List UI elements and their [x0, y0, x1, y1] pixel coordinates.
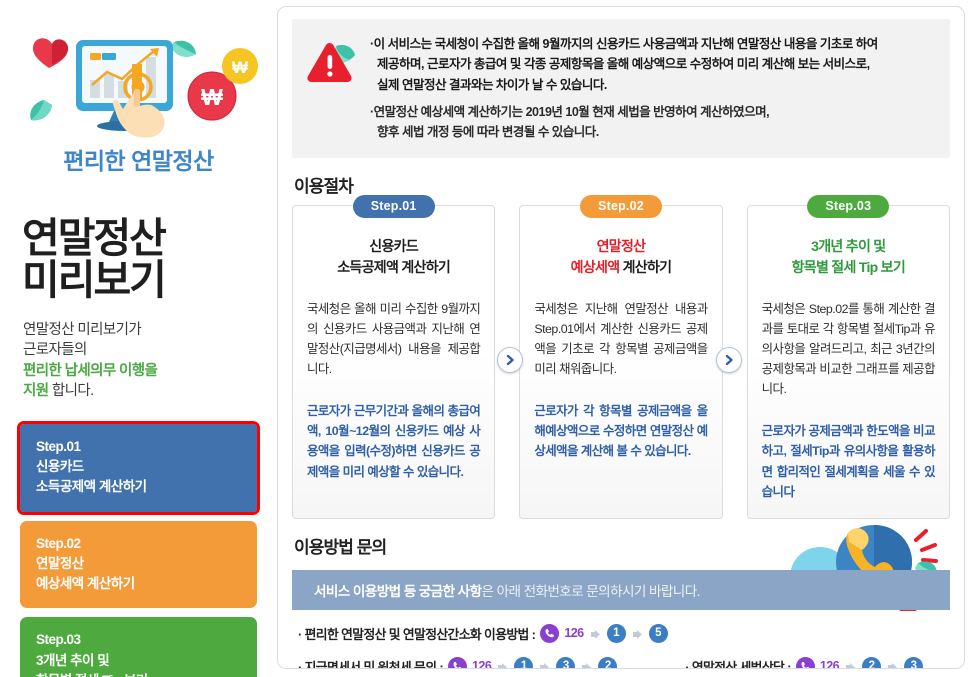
sidebar-steps-nav: Step.01 신용카드 소득공제액 계산하기 Step.02 연말정산 예상세… [20, 424, 257, 677]
phone-handset-icon [448, 657, 467, 669]
sidebar-item-step-02-line2: 예상세액 계산하기 [36, 574, 257, 594]
step-card-03-title: 3개년 추이 및 항목별 절세 Tip 보기 [762, 236, 935, 277]
sidebar-item-step-03-line1: 3개년 추이 및 [36, 651, 257, 671]
lead-line-2: 근로자들의 [23, 342, 87, 358]
page-title: 연말정산 미리보기 [22, 218, 263, 302]
step-card-01-badge: Step.01 [353, 195, 435, 218]
cta-banner: 서비스 이용방법 등 궁금한 사항은 아래 전화번호로 문의하시기 바랍니다. [292, 570, 950, 610]
monitor-chart-hand-coins-illustration: ₩ ₩ [14, 8, 263, 140]
step-card-02-body: 국세청은 지난해 연말정산 내용과 Step.01에서 계산한 신용카드 공제액… [534, 299, 707, 379]
telephone-digit: 1 [514, 657, 533, 669]
step-card-03-title-l2: 항목별 절세 Tip 보기 [762, 257, 935, 277]
procedure-heading: 이용절차 [294, 172, 950, 197]
telephone-digit: 2 [862, 657, 881, 669]
telephone-digit: 5 [649, 624, 668, 643]
telephone-label: · 편리한 연말정산 및 연말정산간소화 이용방법 : [298, 624, 535, 643]
chevron-right-icon[interactable] [716, 347, 742, 373]
telephone-digit: 3 [556, 657, 575, 669]
telephone-label: · 지급명세서 및 원천세 문의 : [298, 657, 443, 669]
step-card-01-badge-wrap: Step.01 [293, 195, 494, 218]
sidebar-item-step-03-num: Step.03 [36, 630, 257, 650]
telephone-number: 126 [472, 659, 491, 669]
telephone-label: · 연말정산 세법상담 : [685, 657, 791, 669]
step-card-02-title-l2: 예상세액 계산하기 [534, 257, 707, 277]
sidebar-item-step-02-num: Step.02 [36, 534, 257, 554]
sidebar-item-step-01-num: Step.01 [36, 437, 257, 457]
lead-line-4-tail: 합니다. [48, 383, 93, 399]
step-card-01-title: 신용카드 소득공제액 계산하기 [307, 236, 480, 277]
sidebar-item-step-01-line1: 신용카드 [36, 457, 257, 477]
lead-line-1: 연말정산 미리보기가 [23, 322, 141, 338]
notice-p1-l3: 실제 연말정산 결과와는 차이가 날 수 있습니다. [370, 75, 934, 95]
sidebar-lead-text: 연말정산 미리보기가 근로자들의 편리한 납세의무 이행을 지원 합니다. [23, 320, 263, 402]
telephone-group-withholding: · 지급명세서 및 원천세 문의 : 126 1 3 [298, 657, 617, 669]
telephone-digit: 2 [598, 657, 617, 669]
cta-banner-bold: 서비스 이용방법 등 궁금한 사항 [314, 584, 482, 599]
step-card-03-body-highlight: 근로자가 공제금액과 한도액을 비교하고, 절세Tip과 유의사항을 활용하면 … [762, 421, 935, 501]
step-card-02-title-l2-red: 예상세액 [571, 259, 620, 275]
step-card-01-title-l1: 신용카드 [307, 236, 480, 256]
step-card-02[interactable]: Step.02 연말정산 예상세액 계산하기 국세청은 지난해 연말정산 내용과… [519, 205, 722, 518]
step-card-03[interactable]: Step.03 3개년 추이 및 항목별 절세 Tip 보기 국세청은 Step… [747, 205, 950, 518]
step-card-01-title-l2: 소득공제액 계산하기 [307, 257, 480, 277]
contact-heading: 이용방법 문의 [294, 533, 950, 558]
arrow-right-icon [632, 628, 643, 639]
cta-banner-text: 서비스 이용방법 등 궁금한 사항은 아래 전화번호로 문의하시기 바랍니다. [314, 580, 700, 600]
telephone-group-tax-consult: · 연말정산 세법상담 : 126 2 3 [685, 657, 923, 669]
svg-text:₩: ₩ [201, 84, 223, 110]
step-card-02-badge: Step.02 [580, 195, 662, 218]
phone-handset-icon [540, 624, 559, 643]
telephone-row: · 편리한 연말정산 및 연말정산간소화 이용방법 : 126 1 5 [298, 624, 950, 643]
notice-box: ·이 서비스는 국세청이 수집한 올해 9월까지의 신용카드 사용금액과 지난해… [292, 19, 950, 158]
main-panel: ·이 서비스는 국세청이 수집한 올해 9월까지의 신용카드 사용금액과 지난해… [277, 6, 965, 669]
lead-line-3: 편리한 납세의무 이행을 [23, 363, 157, 379]
sidebar-item-step-03-line2: 항목별 절세 Tip 보기 [36, 671, 257, 677]
telephone-number: 126 [820, 659, 839, 669]
notice-text-block: ·이 서비스는 국세청이 수집한 올해 9월까지의 신용카드 사용금액과 지난해… [370, 33, 934, 142]
lead-line-4: 지원 [23, 383, 48, 399]
step-card-02-body-highlight: 근로자가 각 항목별 공제금액을 올해예상액으로 수정하면 연말정산 예상세액을… [534, 401, 707, 461]
arrow-right-icon [581, 661, 592, 669]
step-card-02-title-l1: 연말정산 [534, 236, 707, 256]
telephone-group-convenience: · 편리한 연말정산 및 연말정산간소화 이용방법 : 126 1 5 [298, 624, 668, 643]
arrow-right-icon [539, 661, 550, 669]
warning-triangle-icon [304, 33, 358, 90]
sidebar-item-step-03[interactable]: Step.03 3개년 추이 및 항목별 절세 Tip 보기 [20, 617, 257, 677]
cta-banner-rest: 은 아래 전화번호로 문의하시기 바랍니다. [482, 584, 700, 599]
svg-text:₩: ₩ [232, 58, 249, 77]
step-card-02-title: 연말정산 예상세액 계산하기 [534, 236, 707, 277]
sidebar: ₩ ₩ 편리한 연말정산 연말정산 미리보기 연말정산 미리보기가 근로자들의 … [0, 0, 277, 677]
step-card-02-title-l2-rest: 계산하기 [619, 259, 671, 275]
step-card-03-body: 국세청은 Step.02를 통해 계산한 결과를 토대로 각 항목별 절세Tip… [762, 299, 935, 399]
step-card-02-badge-wrap: Step.02 [520, 195, 721, 218]
procedure-cards: Step.01 신용카드 소득공제액 계산하기 국세청은 올해 미리 수집한 9… [292, 205, 950, 518]
sidebar-item-step-02-line1: 연말정산 [36, 554, 257, 574]
step-card-03-badge-wrap: Step.03 [748, 195, 949, 218]
page-root: ₩ ₩ 편리한 연말정산 연말정산 미리보기 연말정산 미리보기가 근로자들의 … [0, 0, 973, 677]
notice-p1-l1: ·이 서비스는 국세청이 수집한 올해 9월까지의 신용카드 사용금액과 지난해… [370, 37, 878, 51]
step-card-03-badge: Step.03 [807, 195, 889, 218]
sidebar-item-step-02[interactable]: Step.02 연말정산 예상세액 계산하기 [20, 521, 257, 609]
step-card-03-title-l1: 3개년 추이 및 [762, 236, 935, 256]
phone-handset-icon [796, 657, 815, 669]
arrow-right-icon [590, 628, 601, 639]
contact-section: 이용방법 문의 ₩ [292, 533, 950, 669]
step-card-01-body: 국세청은 올해 미리 수집한 9월까지의 신용카드 사용금액과 지난해 연말정산… [307, 299, 480, 379]
telephone-rows: · 편리한 연말정산 및 연말정산간소화 이용방법 : 126 1 5 [292, 624, 950, 669]
telephone-digit: 3 [904, 657, 923, 669]
page-title-line2: 미리보기 [22, 260, 263, 302]
telephone-number: 126 [564, 626, 583, 640]
sidebar-item-step-01-line2: 소득공제액 계산하기 [36, 477, 257, 497]
page-title-line1: 연말정산 [22, 215, 165, 261]
arrow-right-icon [497, 661, 508, 669]
brand-title: 편리한 연말정산 [14, 142, 263, 176]
notice-paragraph-2: ·연말정산 예상세액 계산하기는 2019년 10월 현재 세법을 반영하여 계… [370, 102, 934, 143]
sidebar-item-step-01[interactable]: Step.01 신용카드 소득공제액 계산하기 [20, 424, 257, 512]
notice-p2-l2: 향후 세법 개정 등에 따라 변경될 수 있습니다. [370, 122, 934, 142]
notice-p2-l1: ·연말정산 예상세액 계산하기는 2019년 10월 현재 세법을 반영하여 계… [370, 105, 769, 119]
notice-paragraph-1: ·이 서비스는 국세청이 수집한 올해 9월까지의 신용카드 사용금액과 지난해… [370, 34, 934, 95]
telephone-digit: 1 [607, 624, 626, 643]
telephone-row: · 지급명세서 및 원천세 문의 : 126 1 3 [298, 657, 950, 669]
step-card-01[interactable]: Step.01 신용카드 소득공제액 계산하기 국세청은 올해 미리 수집한 9… [292, 205, 495, 518]
arrow-right-icon [845, 661, 856, 669]
step-card-01-body-highlight: 근로자가 근무기간과 올해의 총급여액, 10월~12월의 신용카드 예상 사용… [307, 401, 480, 481]
arrow-right-icon [887, 661, 898, 669]
notice-p1-l2: 제공하며, 근로자가 총급여 및 각종 공제항목을 올해 예상액으로 수정하여 … [370, 54, 934, 74]
